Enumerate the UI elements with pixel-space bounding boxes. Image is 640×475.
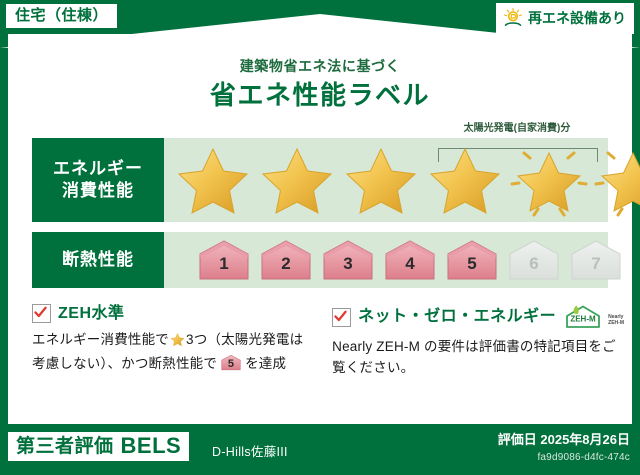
star-icon <box>342 143 420 217</box>
energy-star-rating <box>164 138 608 222</box>
insulation-level-scale: 1 2 3 <box>164 232 608 288</box>
star-icon <box>258 143 336 217</box>
zeh-m-logo-icon: ZEH-M <box>563 304 603 330</box>
label-footer: 第三者評価 BELS D-Hills佐藤III 評価日 2025年8月26日 f… <box>0 424 640 475</box>
star-icon <box>426 143 504 217</box>
title-subtitle: 建築物省エネ法に基づく <box>8 58 632 75</box>
evaluation-id: fa9d9086-d4fc-474c <box>537 452 630 464</box>
insulation-level-value: 2 <box>258 255 314 272</box>
inline-badge-value: 5 <box>219 359 243 370</box>
insulation-performance-row: 断熱性能 1 <box>32 232 608 288</box>
renewable-equipment-chip: 再エネ設備あり <box>496 3 634 34</box>
star-icon <box>174 143 252 217</box>
insulation-row-label-text: 断熱性能 <box>62 249 134 271</box>
insulation-level-badge: 1 <box>196 238 252 282</box>
insulation-level-value: 7 <box>568 255 624 272</box>
energy-performance-row: エネルギー 消費性能 太陽光発電(自家消費)分 <box>32 138 608 222</box>
energy-performance-label: 住宅（住棟） 再エネ設備あり <box>0 0 640 475</box>
net-zero-description: Nearly ZEH-M の要件は評価書の特記項目をご覧ください。 <box>332 337 624 379</box>
zeh-m-nearly-line2: ZEH-M <box>608 321 624 327</box>
building-type-chip: 住宅（住棟） <box>6 4 117 28</box>
renewable-chip-label: 再エネ設備あり <box>528 11 626 25</box>
bels-en-label: BELS <box>121 435 182 457</box>
page-title: 省エネ性能ラベル <box>8 79 632 112</box>
star-solar-icon <box>510 143 588 217</box>
net-zero-heading: ネット・ゼロ・エネルギー ZEH-M Nearly ZEH-M <box>332 304 624 330</box>
insulation-level-value: 4 <box>382 255 438 272</box>
bels-jp-label: 第三者評価 <box>16 437 114 456</box>
star-solar-icon <box>594 143 640 217</box>
zeh-title: ZEH水準 <box>58 306 125 322</box>
building-type-label: 住宅（住棟） <box>15 7 108 24</box>
net-zero-energy-block: ネット・ゼロ・エネルギー ZEH-M Nearly ZEH-M Nearly Z… <box>332 304 624 379</box>
insulation-level-badge: 4 <box>382 238 438 282</box>
info-section: ZEH水準 エネルギー消費性能で3つ（太陽光発電は考慮しない）、かつ断熱性能で5… <box>32 304 624 379</box>
bels-badge: 第三者評価 BELS <box>8 432 189 461</box>
insulation-level-badge: 7 <box>568 238 624 282</box>
zeh-m-nearly-caption: Nearly ZEH-M <box>608 315 624 327</box>
zeh-check-icon <box>32 304 51 323</box>
solar-note-label: 太陽光発電(自家消費)分 <box>432 124 602 134</box>
zeh-heading: ZEH水準 <box>32 304 316 323</box>
evaluation-date: 評価日 2025年8月26日 <box>498 432 630 448</box>
svg-text:ZEH-M: ZEH-M <box>570 315 596 324</box>
zeh-text-part3: を達成 <box>245 356 286 371</box>
zeh-text-part1: エネルギー消費性能で <box>32 332 169 347</box>
insulation-level-value: 6 <box>506 255 562 272</box>
insulation-level-value: 5 <box>444 255 500 272</box>
inline-insulation-badge: 5 <box>219 354 243 371</box>
energy-row-body: 太陽光発電(自家消費)分 <box>164 138 608 222</box>
solar-sun-icon <box>502 7 524 29</box>
net-zero-check-icon <box>332 308 351 327</box>
zeh-description: エネルギー消費性能で3つ（太陽光発電は考慮しない）、かつ断熱性能で5を達成 <box>32 330 316 375</box>
energy-row-label-line2: 消費性能 <box>62 180 134 202</box>
energy-row-label: エネルギー 消費性能 <box>32 138 164 222</box>
net-zero-title: ネット・ゼロ・エネルギー <box>358 309 556 325</box>
insulation-level-value: 1 <box>196 255 252 272</box>
zeh-standard-block: ZEH水準 エネルギー消費性能で3つ（太陽光発電は考慮しない）、かつ断熱性能で5… <box>32 304 316 379</box>
insulation-level-badge: 5 <box>444 238 500 282</box>
insulation-level-badge: 3 <box>320 238 376 282</box>
energy-row-label-line1: エネルギー <box>53 158 143 180</box>
label-body: 建築物省エネ法に基づく 省エネ性能ラベル エネルギー 消費性能 太陽光発電(自家… <box>8 34 632 424</box>
building-name: D-Hills佐藤III <box>212 446 288 459</box>
solar-note-wrap: 太陽光発電(自家消費)分 <box>432 124 602 134</box>
inline-star-icon <box>170 332 185 354</box>
insulation-level-badge: 6 <box>506 238 562 282</box>
insulation-row-label: 断熱性能 <box>32 232 164 288</box>
insulation-row-body: 1 2 3 <box>164 232 608 288</box>
title-block: 建築物省エネ法に基づく 省エネ性能ラベル <box>8 58 632 111</box>
insulation-level-badge: 2 <box>258 238 314 282</box>
insulation-level-value: 3 <box>320 255 376 272</box>
